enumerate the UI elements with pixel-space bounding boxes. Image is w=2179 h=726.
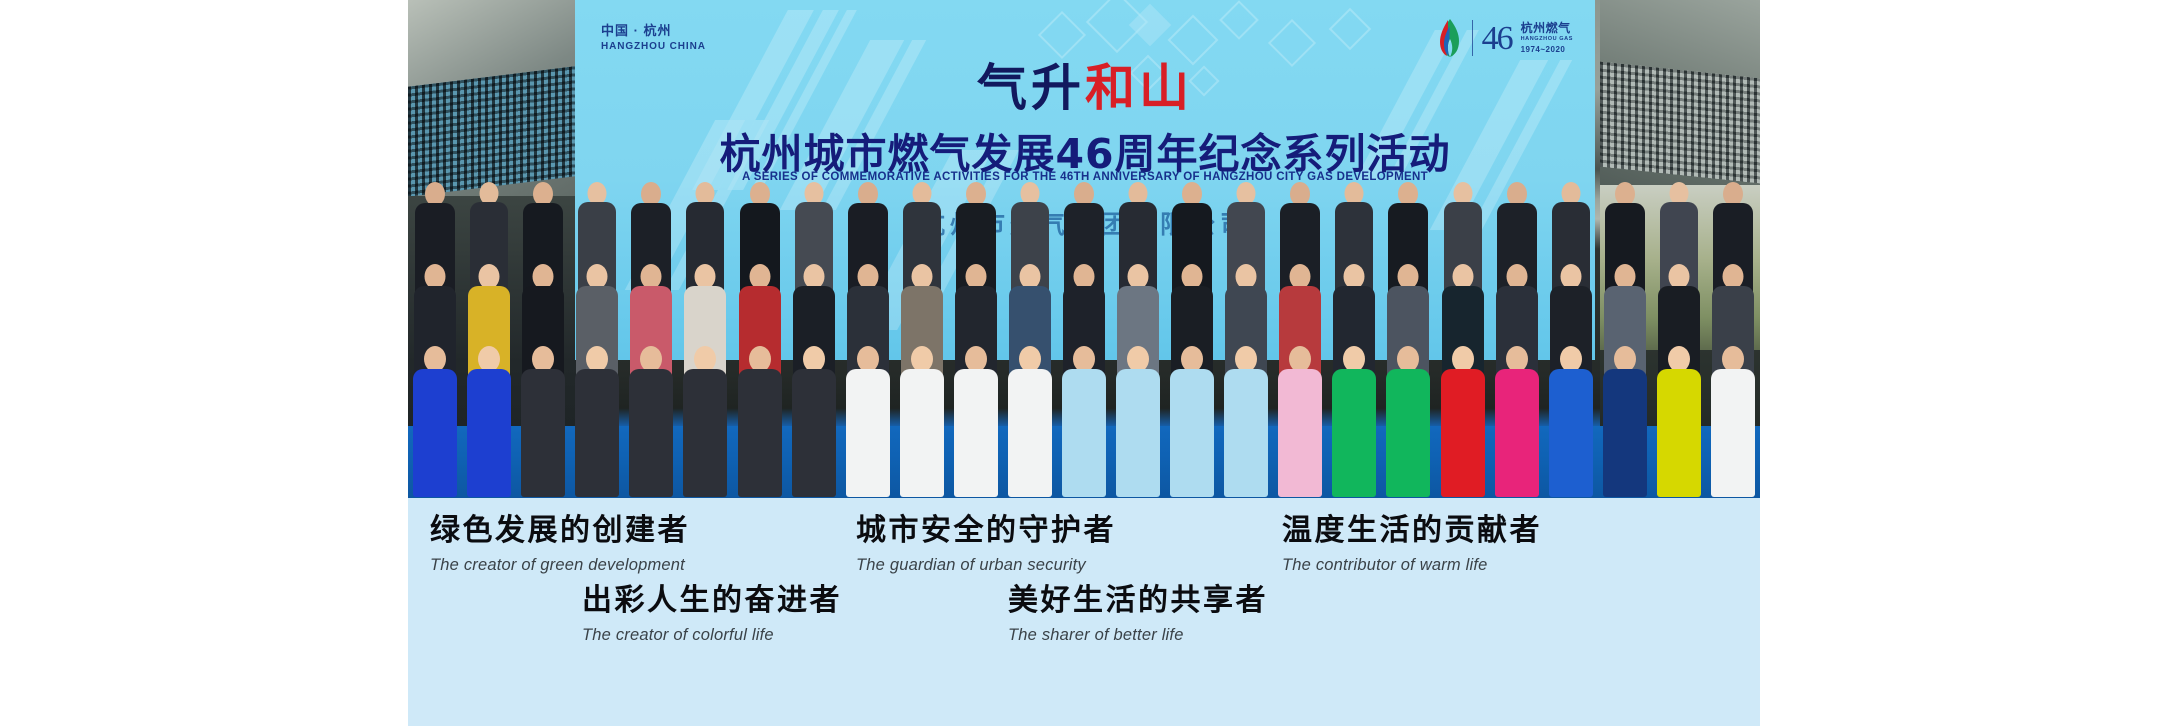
page-root: 中国 · 杭州 HANGZHOU CHINA 46 杭州燃气 HANGZHOU …	[0, 0, 2179, 726]
slogan-item: 温度生活的贡献者 The contributor of warm life	[1282, 514, 1630, 575]
art-logo: 气升和山	[575, 48, 1595, 120]
person	[1652, 346, 1706, 498]
person	[841, 346, 895, 498]
group-photo: 中国 · 杭州 HANGZHOU CHINA 46 杭州燃气 HANGZHOU …	[408, 0, 1760, 498]
person	[678, 346, 732, 498]
slogan-cn: 温度生活的贡献者	[1282, 514, 1630, 549]
slogan-item: 绿色发展的创建者 The creator of green developmen…	[430, 514, 778, 575]
person	[895, 346, 949, 498]
slogan-en: The creator of colorful life	[582, 626, 930, 645]
person	[408, 346, 462, 498]
brand-en: HANGZHOU GAS	[1521, 36, 1573, 43]
person	[516, 346, 570, 498]
image-content-block: 中国 · 杭州 HANGZHOU CHINA 46 杭州燃气 HANGZHOU …	[408, 0, 1760, 726]
venue-right-railing	[1600, 62, 1760, 184]
people-group	[408, 168, 1760, 498]
person	[624, 346, 678, 498]
slogan-row-2: 出彩人生的奋进者 The creator of colorful life 美好…	[408, 584, 1760, 645]
person	[1435, 346, 1489, 498]
person	[732, 346, 786, 498]
slogan-en: The creator of green development	[430, 556, 778, 575]
person	[570, 346, 624, 498]
slogan-en: The contributor of warm life	[1282, 556, 1630, 575]
art-logo-dark: 气升	[977, 59, 1085, 117]
person	[1111, 346, 1165, 498]
slogan-panel: 绿色发展的创建者 The creator of green developmen…	[408, 498, 1760, 726]
person	[1598, 346, 1652, 498]
person	[1381, 346, 1435, 498]
slogan-item: 城市安全的守护者 The guardian of urban security	[856, 514, 1204, 575]
person	[1219, 346, 1273, 498]
person	[1057, 346, 1111, 498]
person	[1706, 346, 1760, 498]
slogan-item: 出彩人生的奋进者 The creator of colorful life	[582, 584, 930, 645]
person	[1165, 346, 1219, 498]
slogan-cn: 美好生活的共享者	[1008, 584, 1356, 619]
slogan-cn: 出彩人生的奋进者	[582, 584, 930, 619]
art-logo-red: 和山	[1085, 59, 1193, 117]
person	[462, 346, 516, 498]
slogan-en: The guardian of urban security	[856, 556, 1204, 575]
person	[949, 346, 1003, 498]
slogan-row-1: 绿色发展的创建者 The creator of green developmen…	[408, 514, 1760, 575]
person	[1273, 346, 1327, 498]
slogan-item: 美好生活的共享者 The sharer of better life	[1008, 584, 1356, 645]
person	[1490, 346, 1544, 498]
slogan-en: The sharer of better life	[1008, 626, 1356, 645]
person	[1544, 346, 1598, 498]
person	[787, 346, 841, 498]
slogan-cn: 城市安全的守护者	[856, 514, 1204, 549]
location-cn: 中国 · 杭州	[601, 22, 706, 40]
person	[1003, 346, 1057, 498]
brand-cn: 杭州燃气	[1521, 21, 1573, 36]
person	[1327, 346, 1381, 498]
slogan-cn: 绿色发展的创建者	[430, 514, 778, 549]
